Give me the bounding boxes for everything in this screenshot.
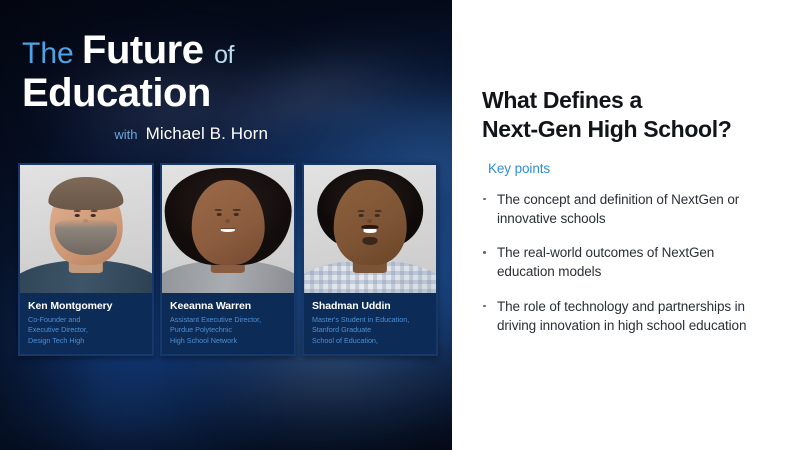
key-point-item: The real-world outcomes of NextGen educa… (482, 243, 774, 281)
title-word-future: Future (82, 28, 214, 72)
key-points-list: The concept and definition of NextGen or… (482, 190, 774, 335)
presentation-slide: The Future of Education with Michael B. … (0, 0, 800, 450)
speaker-photo-shadman-uddin (304, 165, 436, 293)
key-point-text: The real-world outcomes of NextGen educa… (497, 245, 714, 279)
portrait-head (334, 180, 407, 264)
speaker-name: Keeanna Warren (170, 300, 287, 312)
speaker-role-line: Executive Director, (28, 325, 145, 335)
speaker-role: Co-Founder and Executive Director, Desig… (28, 315, 145, 346)
portrait-eye-right (91, 214, 96, 217)
portrait-brow-left (74, 210, 81, 212)
portrait-nose (367, 219, 372, 223)
portrait-eye-right (234, 213, 239, 216)
key-point-item: The concept and definition of NextGen or… (482, 190, 774, 228)
speaker-info: Ken Montgomery Co-Founder and Executive … (20, 293, 152, 354)
portrait-chin-beard (363, 237, 378, 245)
speaker-photo-ken-montgomery (20, 165, 152, 293)
speaker-role-line: Stanford Graduate (312, 325, 429, 335)
portrait-mouth (221, 229, 235, 232)
right-content-panel: What Defines a Next-Gen High School? Key… (452, 0, 800, 450)
portrait-eye-left (359, 214, 364, 217)
speaker-role-line: Design Tech High (28, 336, 145, 346)
bullet-dot-icon (483, 198, 486, 201)
key-point-text: The concept and definition of NextGen or… (497, 192, 739, 226)
speaker-role-line: High School Network (170, 336, 287, 346)
portrait-mustache (362, 225, 379, 229)
portrait-mouth (364, 229, 376, 232)
portrait-brow-right (374, 210, 381, 212)
byline-with-word: with (114, 127, 141, 142)
slide-heading: What Defines a Next-Gen High School? (482, 86, 774, 145)
speaker-photo-keeanna-warren (162, 165, 294, 293)
portrait-brow-right (233, 209, 240, 211)
title-word-education: Education (22, 71, 211, 115)
speaker-role-line: Co-Founder and (28, 315, 145, 325)
portrait-eye-left (75, 214, 80, 217)
speaker-card: Ken Montgomery Co-Founder and Executive … (18, 163, 154, 356)
speaker-role: Assistant Executive Director, Purdue Pol… (170, 315, 287, 346)
speaker-name: Ken Montgomery (28, 300, 145, 312)
portrait-brow-right (90, 210, 97, 212)
title-line-2: Education (22, 73, 422, 113)
speaker-role-line: Purdue Polytechnic (170, 325, 287, 335)
speaker-role-line: School of Education, (312, 336, 429, 346)
portrait-nose (225, 219, 230, 223)
title-line-1: The Future of (22, 30, 422, 70)
speaker-info: Shadman Uddin Master's Student in Educat… (304, 293, 436, 354)
title-word-the: The (22, 37, 82, 70)
key-point-item: The role of technology and partnerships … (482, 297, 774, 335)
bullet-dot-icon (483, 305, 486, 308)
slide-heading-line-2: Next-Gen High School? (482, 115, 774, 144)
portrait-eye-left (216, 213, 221, 216)
title-word-of: of (214, 41, 234, 69)
key-points-kicker: Key points (488, 161, 774, 176)
portrait-brow-left (215, 209, 222, 211)
host-byline: with Michael B. Horn (22, 124, 268, 144)
key-point-text: The role of technology and partnerships … (497, 299, 746, 333)
speaker-info: Keeanna Warren Assistant Executive Direc… (162, 293, 294, 354)
speaker-role-line: Master's Student in Education, (312, 315, 429, 325)
byline-host-name: Michael B. Horn (146, 124, 268, 143)
speaker-role: Master's Student in Education, Stanford … (312, 315, 429, 346)
portrait-brow-left (358, 210, 365, 212)
portrait-head (192, 180, 265, 264)
speaker-name: Shadman Uddin (312, 300, 429, 312)
bullet-dot-icon (483, 251, 486, 254)
show-title-lockup: The Future of Education with Michael B. … (22, 30, 422, 144)
left-branding-panel: The Future of Education with Michael B. … (0, 0, 452, 450)
speaker-role-line: Assistant Executive Director, (170, 315, 287, 325)
speaker-card-list: Ken Montgomery Co-Founder and Executive … (18, 163, 438, 356)
speaker-card: Keeanna Warren Assistant Executive Direc… (160, 163, 296, 356)
slide-heading-line-1: What Defines a (482, 86, 774, 115)
portrait-eye-right (375, 214, 380, 217)
speaker-card: Shadman Uddin Master's Student in Educat… (302, 163, 438, 356)
